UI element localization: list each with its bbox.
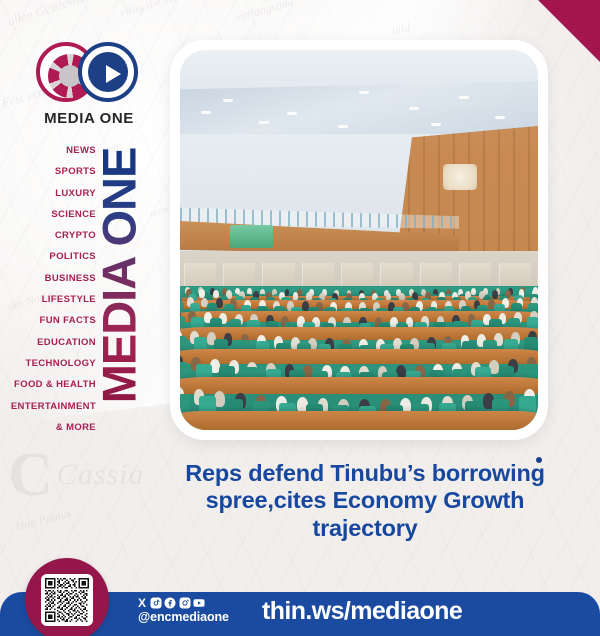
vertical-brand-wordmark: MEDIA ONE <box>92 126 146 426</box>
category-item-more[interactable]: & MORE <box>0 417 102 438</box>
play-circle-icon <box>78 42 138 102</box>
social-block: X @encmediaone <box>138 596 229 624</box>
short-url[interactable]: thin.ws/mediaone <box>262 597 462 626</box>
category-item-politics[interactable]: POLITICS <box>0 246 102 267</box>
instagram-icon[interactable] <box>179 597 191 609</box>
category-item-crypto[interactable]: CRYPTO <box>0 225 102 246</box>
category-item-fun-facts[interactable]: FUN FACTS <box>0 310 102 331</box>
headline: Reps defend Tinubu’s borrowing spree,cit… <box>150 460 580 542</box>
category-item-technology[interactable]: TECHNOLOGY <box>0 353 102 374</box>
vertical-brand-text: MEDIA ONE <box>96 148 143 404</box>
category-item-food-health[interactable]: FOOD & HEALTH <box>0 374 102 395</box>
youtube-icon[interactable] <box>193 597 205 609</box>
qr-code-frame <box>41 574 93 626</box>
play-circle-fill <box>88 52 128 92</box>
logo-marks <box>30 40 148 104</box>
watermark-word: Han Paulus <box>14 506 73 535</box>
photo-shading <box>180 50 538 430</box>
category-item-science[interactable]: SCIENCE <box>0 204 102 225</box>
category-item-business[interactable]: BUSINESS <box>0 268 102 289</box>
brand-logo: MEDIA ONE <box>30 40 148 127</box>
logo-wordmark: MEDIA ONE <box>30 110 148 127</box>
category-item-news[interactable]: NEWS <box>0 140 102 161</box>
category-item-lifestyle[interactable]: LIFESTYLE <box>0 289 102 310</box>
category-item-sports[interactable]: SPORTS <box>0 161 102 182</box>
news-poster: allen Geisteshaltungvillig die Wortverla… <box>0 0 600 636</box>
facebook-icon[interactable] <box>164 597 176 609</box>
watermark-word: allen Geisteshaltung <box>6 0 113 30</box>
watermark-word: verlangsamt <box>234 0 295 25</box>
category-item-entertainment[interactable]: ENTERTAINMENT <box>0 396 102 417</box>
watermark-word: bild <box>390 20 412 39</box>
social-icons: X <box>138 596 229 609</box>
tiktok-icon[interactable] <box>150 597 162 609</box>
social-handle[interactable]: @encmediaone <box>138 610 229 624</box>
cassia-watermark-letter: C <box>8 444 53 506</box>
qr-code-badge[interactable] <box>25 558 109 636</box>
category-item-education[interactable]: EDUCATION <box>0 332 102 353</box>
x-twitter-icon[interactable]: X <box>138 597 146 609</box>
category-list: NEWSSPORTSLUXURYSCIENCECRYPTOPOLITICSBUS… <box>0 140 102 438</box>
category-item-luxury[interactable]: LUXURY <box>0 183 102 204</box>
news-photo <box>180 50 538 430</box>
qr-code <box>45 578 89 622</box>
news-photo-card <box>170 40 548 440</box>
cassia-watermark-text: Cassia <box>57 458 145 492</box>
play-triangle-icon <box>106 65 121 83</box>
watermark-word: villig die Wort <box>118 0 188 21</box>
corner-triangle-decoration <box>538 0 600 62</box>
